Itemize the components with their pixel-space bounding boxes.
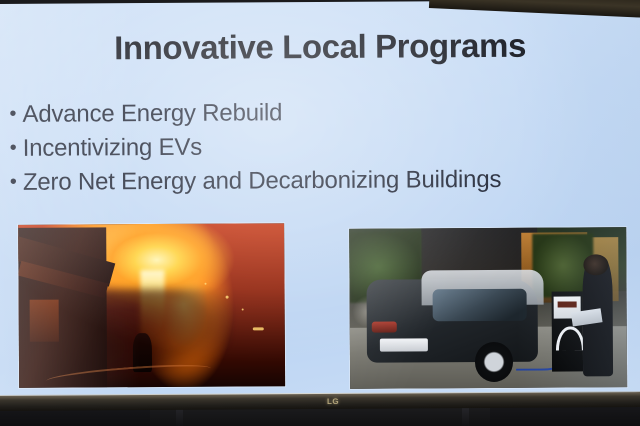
slide-bullet-list: • Advance Energy Rebuild • Incentivizing… [7, 98, 628, 204]
list-item: • Incentivizing EVs [8, 132, 628, 161]
television-stand [150, 408, 490, 426]
television-stand-leg-right [462, 407, 469, 426]
car-taillight [372, 321, 397, 332]
ground-flame [253, 328, 264, 331]
slide-title: Innovative Local Programs [0, 26, 640, 68]
lg-brand-logo: LG [316, 396, 350, 407]
bullet-text: Zero Net Energy and Decarbonizing Buildi… [23, 167, 501, 195]
charger-display-readout [557, 301, 576, 308]
list-item: • Zero Net Energy and Decarbonizing Buil… [8, 166, 628, 195]
car-wheel [475, 341, 514, 381]
house-window [29, 300, 59, 343]
bullet-text: Incentivizing EVs [23, 135, 203, 161]
ember-spark [205, 282, 207, 284]
bullet-marker-icon: • [8, 170, 23, 194]
bullet-marker-icon: • [8, 136, 23, 160]
license-plate [380, 339, 427, 352]
bullet-text: Advance Energy Rebuild [22, 100, 282, 127]
car-rear-window [433, 289, 527, 322]
wildfire-house-fire-photo [18, 223, 285, 388]
person-head [583, 254, 608, 275]
bullet-marker-icon: • [7, 102, 22, 126]
list-item: • Advance Energy Rebuild [7, 98, 627, 127]
ev-charging-photo [349, 227, 627, 389]
screenshot-root: Innovative Local Programs • Advance Ener… [0, 0, 640, 426]
presentation-slide: Innovative Local Programs • Advance Ener… [0, 0, 640, 398]
